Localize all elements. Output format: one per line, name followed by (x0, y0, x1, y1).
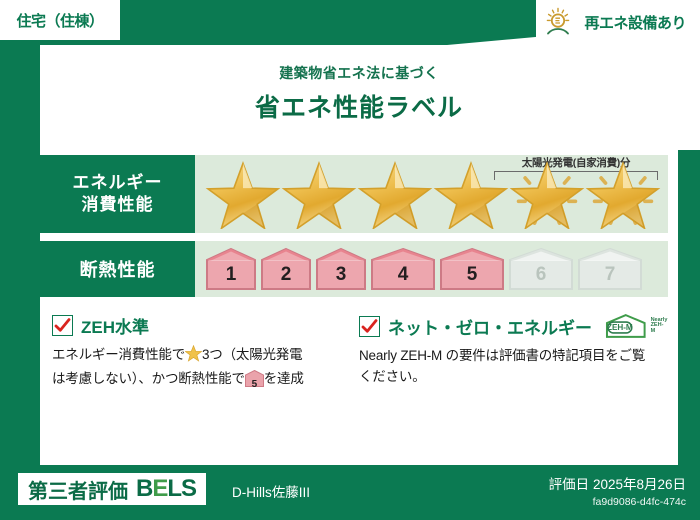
renewable-energy-label: 再エネ設備あり (584, 12, 686, 33)
insulation-grade-value: 2 (260, 264, 312, 286)
zeh-m-logo-sub-line2: ZEH-M (651, 323, 668, 334)
building-type-tab: 住宅（住棟） (0, 0, 120, 40)
energy-star-rating (195, 159, 661, 229)
bels-energy-performance-label: 住宅（住棟） 再エネ設備あり (0, 0, 700, 520)
insulation-grade-inactive: 7 (577, 247, 643, 291)
insulation-grade-scale: 1234567 (195, 247, 643, 291)
label-main-panel: 建築物省エネ法に基づく 省エネ性能ラベル エネルギー 消費性能 太陽光発電(自家… (40, 45, 678, 465)
insulation-grade-active: 3 (315, 247, 367, 291)
insulation-performance-label: 断熱性能 (40, 241, 195, 297)
insulation-performance-label-text: 断熱性能 (80, 256, 156, 282)
insulation-grade-inactive: 6 (508, 247, 574, 291)
zeh-title: ZEH水準 (81, 313, 149, 338)
energy-performance-label-line2: 消費性能 (82, 194, 154, 216)
insulation-grade-active: 4 (370, 247, 436, 291)
label-titles: 建築物省エネ法に基づく 省エネ性能ラベル (40, 63, 678, 124)
zeh-text-c: は考慮しない）、かつ断熱性能で (52, 371, 245, 386)
insulation-grade-active: 5 (439, 247, 505, 291)
label-title: 省エネ性能ラベル (40, 88, 678, 124)
inline-house-grade-value: 5 (245, 377, 264, 393)
third-party-eval-label: 第三者評価 (28, 475, 128, 504)
energy-star-solar (585, 159, 661, 229)
criterion-zeh-header: ZEH水準 (52, 313, 351, 338)
inline-star-icon (185, 345, 202, 369)
criteria-section: ZEH水準 エネルギー消費性能で 3つ（太陽光発電 は考慮しない）、かつ断熱性能… (52, 313, 666, 394)
net-zero-energy-title: ネット・ゼロ・エネルギー (388, 314, 592, 339)
energy-performance-row: エネルギー 消費性能 太陽光発電(自家消費)分 (40, 155, 668, 233)
building-name: D-Hills佐藤III (232, 481, 310, 501)
insulation-grade-active: 2 (260, 247, 312, 291)
energy-star-solar (509, 159, 585, 229)
label-footer: 第三者評価 BELS D-Hills佐藤III 評価日 2025年8月26日 f… (0, 465, 700, 520)
footer-evaluation-info: 評価日 2025年8月26日 fa9d9086-d4fc-474c (549, 473, 686, 508)
insulation-grade-value: 3 (315, 264, 367, 286)
renewable-energy-badge: 再エネ設備あり (536, 0, 700, 44)
net-zero-energy-checkbox[interactable] (359, 316, 380, 337)
criterion-net-zero-energy: ネット・ゼロ・エネルギー ZEH-M Nearly ZEH-M Nearl (359, 313, 666, 394)
energy-performance-body: 太陽光発電(自家消費)分 (195, 155, 668, 233)
bels-letters-ls: LS (167, 475, 196, 502)
energy-star-filled (281, 159, 357, 229)
evaluation-date-value: 2025年8月26日 (593, 477, 686, 492)
insulation-grade-value: 7 (577, 264, 643, 286)
insulation-performance-body: 1234567 (195, 241, 668, 297)
certificate-uid: fa9d9086-d4fc-474c (549, 496, 686, 508)
zeh-checkbox[interactable] (52, 315, 73, 336)
evaluation-date-label: 評価日 (549, 477, 590, 492)
zeh-text-b: 3つ（太陽光発電 (202, 347, 302, 362)
energy-star-filled (205, 159, 281, 229)
energy-performance-label-line1: エネルギー (73, 172, 163, 194)
criterion-nzeb-header: ネット・ゼロ・エネルギー ZEH-M Nearly ZEH-M (359, 313, 658, 339)
bels-certification-mark: 第三者評価 BELS (18, 473, 206, 505)
svg-text:ZEH-M: ZEH-M (607, 323, 633, 332)
label-subtitle: 建築物省エネ法に基づく (40, 63, 678, 83)
criterion-zeh: ZEH水準 エネルギー消費性能で 3つ（太陽光発電 は考慮しない）、かつ断熱性能… (52, 313, 359, 394)
zeh-text-d: を達成 (264, 371, 304, 386)
zeh-m-logo: ZEH-M Nearly ZEH-M (604, 313, 668, 339)
inline-house-grade-icon: 5 (245, 370, 264, 394)
energy-star-filled (357, 159, 433, 229)
bels-letter-b: B (136, 475, 152, 502)
bels-wordmark: BELS (136, 475, 196, 503)
insulation-grade-value: 4 (370, 264, 436, 286)
evaluation-date: 評価日 2025年8月26日 (549, 473, 686, 493)
insulation-grade-active: 1 (205, 247, 257, 291)
zeh-description: エネルギー消費性能で 3つ（太陽光発電 は考慮しない）、かつ断熱性能で 5 を達… (52, 345, 351, 394)
insulation-grade-value: 1 (205, 264, 257, 286)
insulation-grade-value: 5 (439, 264, 505, 286)
building-type-label: 住宅（住棟） (16, 10, 103, 31)
energy-star-filled (433, 159, 509, 229)
net-zero-energy-description: Nearly ZEH-M の要件は評価書の特記項目をご覧ください。 (359, 346, 658, 388)
energy-performance-label: エネルギー 消費性能 (40, 155, 195, 233)
insulation-performance-row: 断熱性能 1234567 (40, 241, 668, 297)
bels-letter-e: E (152, 475, 167, 502)
solar-sun-icon (544, 7, 578, 37)
zeh-text-a: エネルギー消費性能で (52, 347, 185, 362)
insulation-grade-value: 6 (508, 264, 574, 286)
